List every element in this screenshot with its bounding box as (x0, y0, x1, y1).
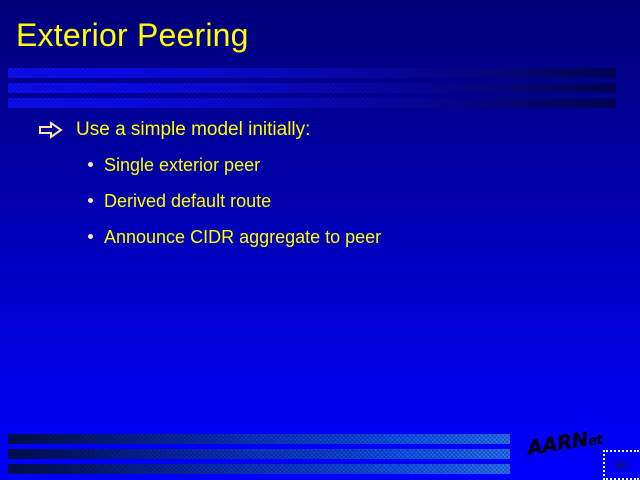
right-arrow-icon (38, 120, 64, 142)
decorative-bar (8, 68, 616, 78)
page-number: XX (615, 461, 627, 472)
aarnet-logo-text: AARNet (526, 425, 604, 460)
bullet-level1-text: Use a simple model initially: (76, 118, 310, 142)
aarnet-logo: AARNet (526, 424, 609, 474)
presentation-slide: Exterior Peering Use a simple model init… (0, 0, 640, 480)
top-decorative-bars (8, 68, 616, 108)
decorative-bar (8, 464, 510, 474)
decorative-bar (8, 434, 510, 444)
bullet-level2-text: Derived default route (104, 190, 271, 213)
aarnet-logo-suffix: et (587, 432, 603, 449)
round-bullet-icon (88, 162, 93, 167)
slide-title: Exterior Peering (16, 16, 616, 54)
bullet-level2: Single exterior peer (88, 154, 640, 177)
bullet-level1: Use a simple model initially: (38, 118, 640, 142)
aarnet-logo-main: AARN (526, 427, 590, 460)
page-number-placeholder: XX (603, 450, 639, 480)
slide-body: Use a simple model initially: Single ext… (0, 118, 640, 262)
decorative-bar (8, 449, 510, 459)
decorative-bar (8, 98, 616, 108)
bullet-level2-text: Single exterior peer (104, 154, 260, 177)
bullet-level2: Derived default route (88, 190, 640, 213)
bottom-decorative-bars (8, 434, 510, 474)
round-bullet-icon (88, 198, 93, 203)
round-bullet-icon (88, 234, 93, 239)
decorative-bar (8, 83, 616, 93)
bullet-level2: Announce CIDR aggregate to peer (88, 226, 640, 249)
bullet-level2-text: Announce CIDR aggregate to peer (104, 226, 381, 249)
